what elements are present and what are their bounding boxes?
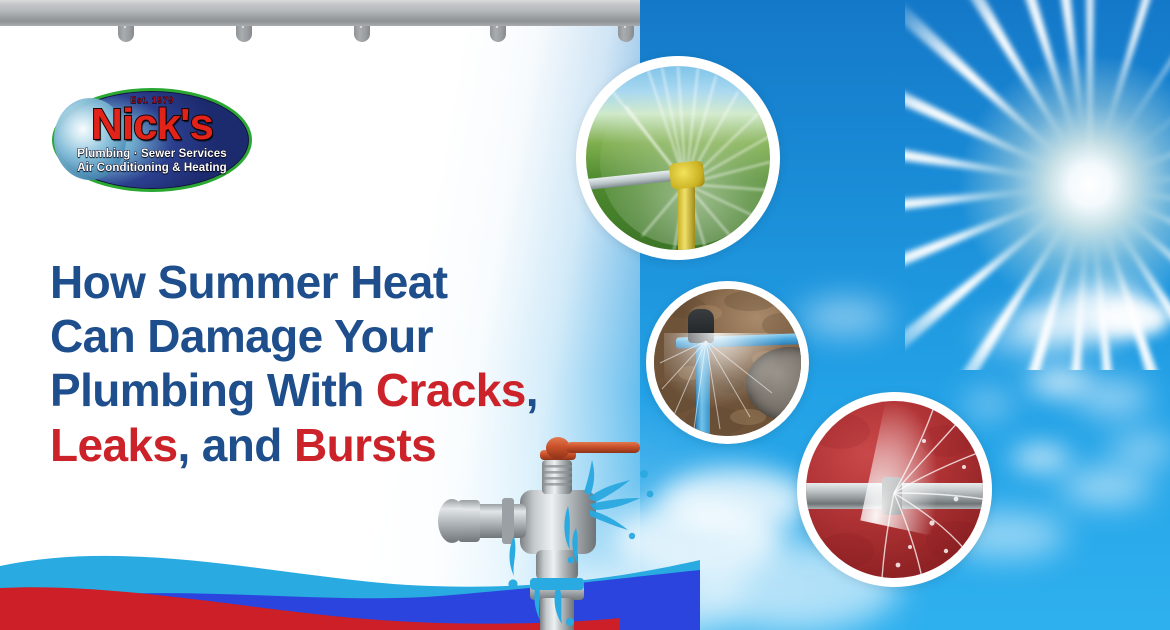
pipe-icon [0,0,640,26]
headline-line-3-comma: , [526,364,538,416]
photo-circle-sprinkler [576,56,780,260]
leaking-valve-icon [418,432,658,630]
headline-keyword-cracks: Cracks [376,364,526,416]
sprinkler-photo [586,66,770,250]
burst-pipe-photo [806,401,983,578]
photo-circle-burst-pipe [797,392,992,587]
headline-line-3-prefix: Plumbing With [50,364,376,416]
headline-line-1: How Summer Heat [50,256,447,308]
logo-brand-name: Nick's [52,100,252,150]
brand-logo[interactable]: Est. 1979 Nick's Plumbing · Sewer Servic… [52,88,252,192]
broken-pipe-photo [654,289,801,436]
logo-services-line-2: Air Conditioning & Heating [52,162,252,174]
headline-line-2: Can Damage Your [50,310,433,362]
headline-keyword-bursts: Bursts [294,419,436,471]
photo-circle-broken-pipe [646,281,809,444]
marketing-banner: Est. 1979 Nick's Plumbing · Sewer Servic… [0,0,1170,630]
headline-line-4-conjunction: , and [177,419,294,471]
logo-services-line-1: Plumbing · Sewer Services [52,148,252,160]
headline-keyword-leaks: Leaks [50,419,177,471]
